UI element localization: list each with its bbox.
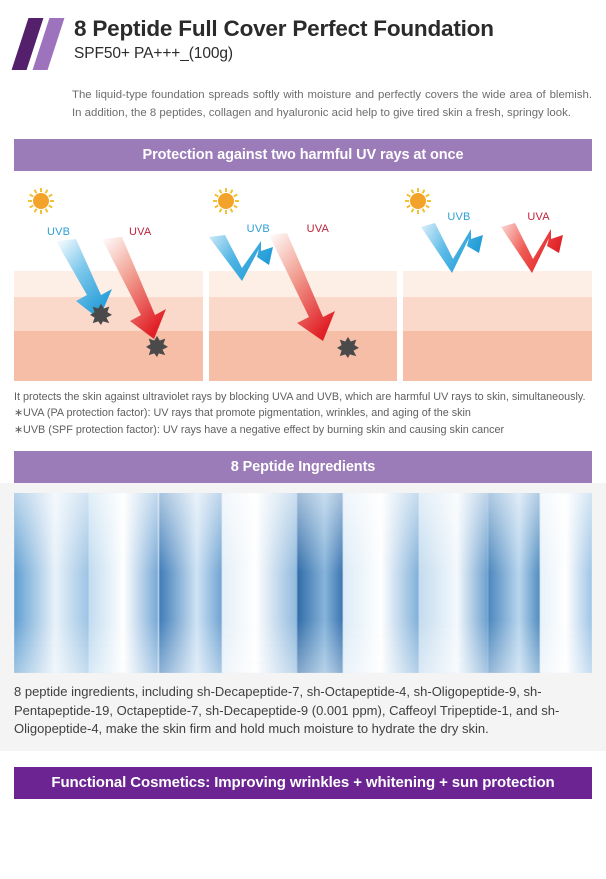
double-slash-logo-icon xyxy=(14,14,68,70)
uv-panel-partial-protection: UVB UVA xyxy=(209,181,398,381)
uva-label: UVA xyxy=(527,211,549,223)
ingredients-section: 8 peptide ingredients, including sh-Deca… xyxy=(0,483,606,750)
uv-panel-full-protection: UVB UVA xyxy=(403,181,592,381)
uvb-label: UVB xyxy=(47,226,70,238)
uvb-arrow-deflected xyxy=(421,223,487,275)
product-detail-page: 8 Peptide Full Cover Perfect Foundation … xyxy=(0,0,606,879)
lab-glassware-photo xyxy=(14,493,592,673)
uvb-label: UVB xyxy=(447,211,470,223)
uva-arrow-deflected xyxy=(501,223,567,275)
page-title: 8 Peptide Full Cover Perfect Foundation xyxy=(74,16,494,42)
sun-icon xyxy=(405,188,431,214)
skin-layers xyxy=(403,271,592,381)
functional-cosmetics-banner: Functional Cosmetics: Improving wrinkles… xyxy=(14,767,592,799)
damage-blob-icon xyxy=(337,336,359,358)
damage-blob-icon xyxy=(90,303,112,325)
uv-diagram: UVB UVA xyxy=(14,181,592,381)
uv-panel-unprotected: UVB UVA xyxy=(14,181,203,381)
uva-arrow-penetrating xyxy=(100,237,180,341)
damage-blob-icon xyxy=(146,335,168,357)
uv-note-line-1: It protects the skin against ultraviolet… xyxy=(14,389,592,405)
ingredients-description: 8 peptide ingredients, including sh-Deca… xyxy=(14,683,592,738)
uv-protection-banner: Protection against two harmful UV rays a… xyxy=(14,139,592,171)
product-spec-subtitle: SPF50+ PA+++_(100g) xyxy=(74,45,494,63)
sun-icon xyxy=(28,188,54,214)
uv-note-line-2: ∗UVA (PA protection factor): UV rays tha… xyxy=(14,405,592,421)
uva-arrow-penetrating xyxy=(267,233,349,343)
sun-icon xyxy=(213,188,239,214)
page-header: 8 Peptide Full Cover Perfect Foundation … xyxy=(0,0,606,70)
uv-explanation-text: It protects the skin against ultraviolet… xyxy=(14,389,592,438)
product-intro-text: The liquid-type foundation spreads softl… xyxy=(72,86,592,123)
ingredients-banner: 8 Peptide Ingredients xyxy=(14,451,592,483)
uv-note-line-3: ∗UVB (SPF protection factor): UV rays ha… xyxy=(14,422,592,438)
